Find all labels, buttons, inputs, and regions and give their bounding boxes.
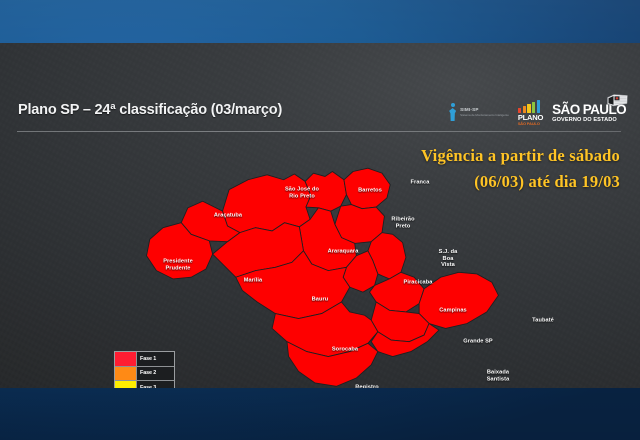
map-label-aracatuba: Araçatuba [214, 213, 242, 220]
governo-sp-logo: SÃO PAULO GOVERNO DO ESTADO [552, 103, 626, 124]
map-label-marilia: Marília [244, 278, 262, 285]
legend-label-fase-3: Fase 3 [137, 381, 174, 388]
map-label-presidente-prudente: Presidente Prudente [163, 258, 193, 271]
map-label-baixada-santista: Baixada Santista [487, 369, 510, 382]
map-label-registro: Registro [355, 385, 379, 388]
map-label-piracicaba: Piracicaba [404, 280, 433, 287]
map-label-franca: Franca [411, 180, 430, 187]
legend-label-fase-1: Fase 1 [137, 352, 174, 366]
phase-legend: Fase 1 Fase 2 Fase 3 Fase 4 Fase 5 [114, 351, 175, 388]
bar-chart-icon [518, 100, 540, 113]
logo-bar: SIMI-SP Sistema de Monitoramento Intelig… [448, 98, 626, 128]
legend-item-fase-1[interactable]: Fase 1 [115, 352, 174, 367]
map-label-sorocaba: Sorocaba [332, 347, 358, 354]
map-region-labels: São José do Rio Preto Barretos Franca Ar… [130, 148, 510, 388]
governo-logo-subtitle: GOVERNO DO ESTADO [552, 118, 617, 124]
plano-logo-subtitle: SÃO PAULO [518, 122, 540, 126]
plano-sp-logo: PLANO SÃO PAULO [518, 100, 543, 126]
header-divider [17, 131, 621, 132]
legend-item-fase-3[interactable]: Fase 3 [115, 381, 174, 388]
simi-sp-logo: SIMI-SP Sistema de Monitoramento Intelig… [448, 103, 509, 123]
page-title: Plano SP – 24ª classificação (03/março) [18, 102, 282, 118]
legend-swatch-fase-2 [115, 367, 137, 381]
sao-paulo-state-map: São José do Rio Preto Barretos Franca Ar… [130, 148, 510, 388]
map-label-sjboa-vista: S.J. da Boa Vista [439, 249, 458, 269]
slide-screenshot: Plano SP – 24ª classificação (03/março) … [0, 0, 640, 440]
simi-person-icon [448, 103, 457, 123]
presentation-slide: Plano SP – 24ª classificação (03/março) … [0, 43, 640, 388]
simi-logo-tagline: Sistema de Monitoramento Inteligente [460, 114, 509, 118]
legend-label-fase-2: Fase 2 [137, 367, 174, 381]
sao-paulo-flag-icon [607, 94, 628, 107]
map-label-grande-sp: Grande SP [463, 339, 493, 346]
map-label-campinas: Campinas [439, 308, 467, 315]
legend-item-fase-2[interactable]: Fase 2 [115, 367, 174, 382]
map-label-taubate: Taubaté [532, 318, 554, 325]
map-label-ribeirao-preto: Ribeirão Preto [391, 216, 414, 229]
map-label-sao-jose-do-rio-preto: São José do Rio Preto [285, 186, 319, 199]
legend-swatch-fase-1 [115, 352, 137, 366]
map-label-barretos: Barretos [358, 188, 382, 195]
legend-swatch-fase-3 [115, 381, 137, 388]
map-label-araraquara: Araraquara [328, 249, 359, 256]
map-label-bauru: Bauru [312, 297, 329, 304]
